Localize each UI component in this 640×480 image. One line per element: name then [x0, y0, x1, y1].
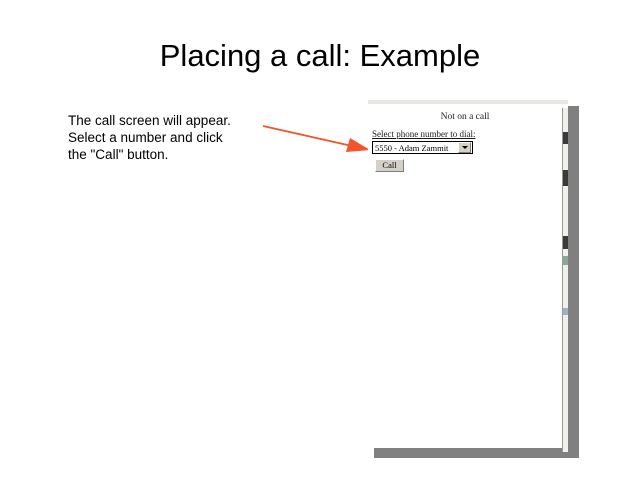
scrollbar-mark	[563, 308, 568, 315]
call-button[interactable]: Call	[375, 159, 404, 172]
body-text-line-2: Select a number and click	[68, 129, 278, 146]
body-text-line-3: the "Call" button.	[68, 146, 278, 163]
pointer-arrow	[258, 118, 376, 160]
vertical-scrollbar[interactable]	[562, 108, 568, 452]
scrollbar-mark	[563, 132, 568, 144]
body-text-line-1: The call screen will appear.	[68, 112, 278, 129]
phone-number-select-value: 5550 - Adam Zammit	[373, 143, 458, 153]
chevron-down-icon[interactable]	[458, 142, 471, 153]
page-title: Placing a call: Example	[0, 38, 640, 74]
dial-number-label: Select phone number to dial:	[372, 129, 562, 139]
phone-number-select[interactable]: 5550 - Adam Zammit	[372, 141, 473, 154]
scrollbar-mark	[563, 256, 568, 265]
call-status-text: Not on a call	[368, 112, 562, 122]
slide-body-text: The call screen will appear. Select a nu…	[68, 112, 278, 163]
arrow-shaft	[263, 126, 352, 146]
arrow-head	[346, 138, 370, 152]
call-screen-app: Not on a call Select phone number to dia…	[368, 108, 562, 172]
embedded-screenshot: Not on a call Select phone number to dia…	[368, 100, 573, 452]
scrollbar-mark	[563, 236, 568, 249]
scrollbar-mark	[563, 170, 568, 186]
browser-page: Not on a call Select phone number to dia…	[368, 100, 568, 448]
